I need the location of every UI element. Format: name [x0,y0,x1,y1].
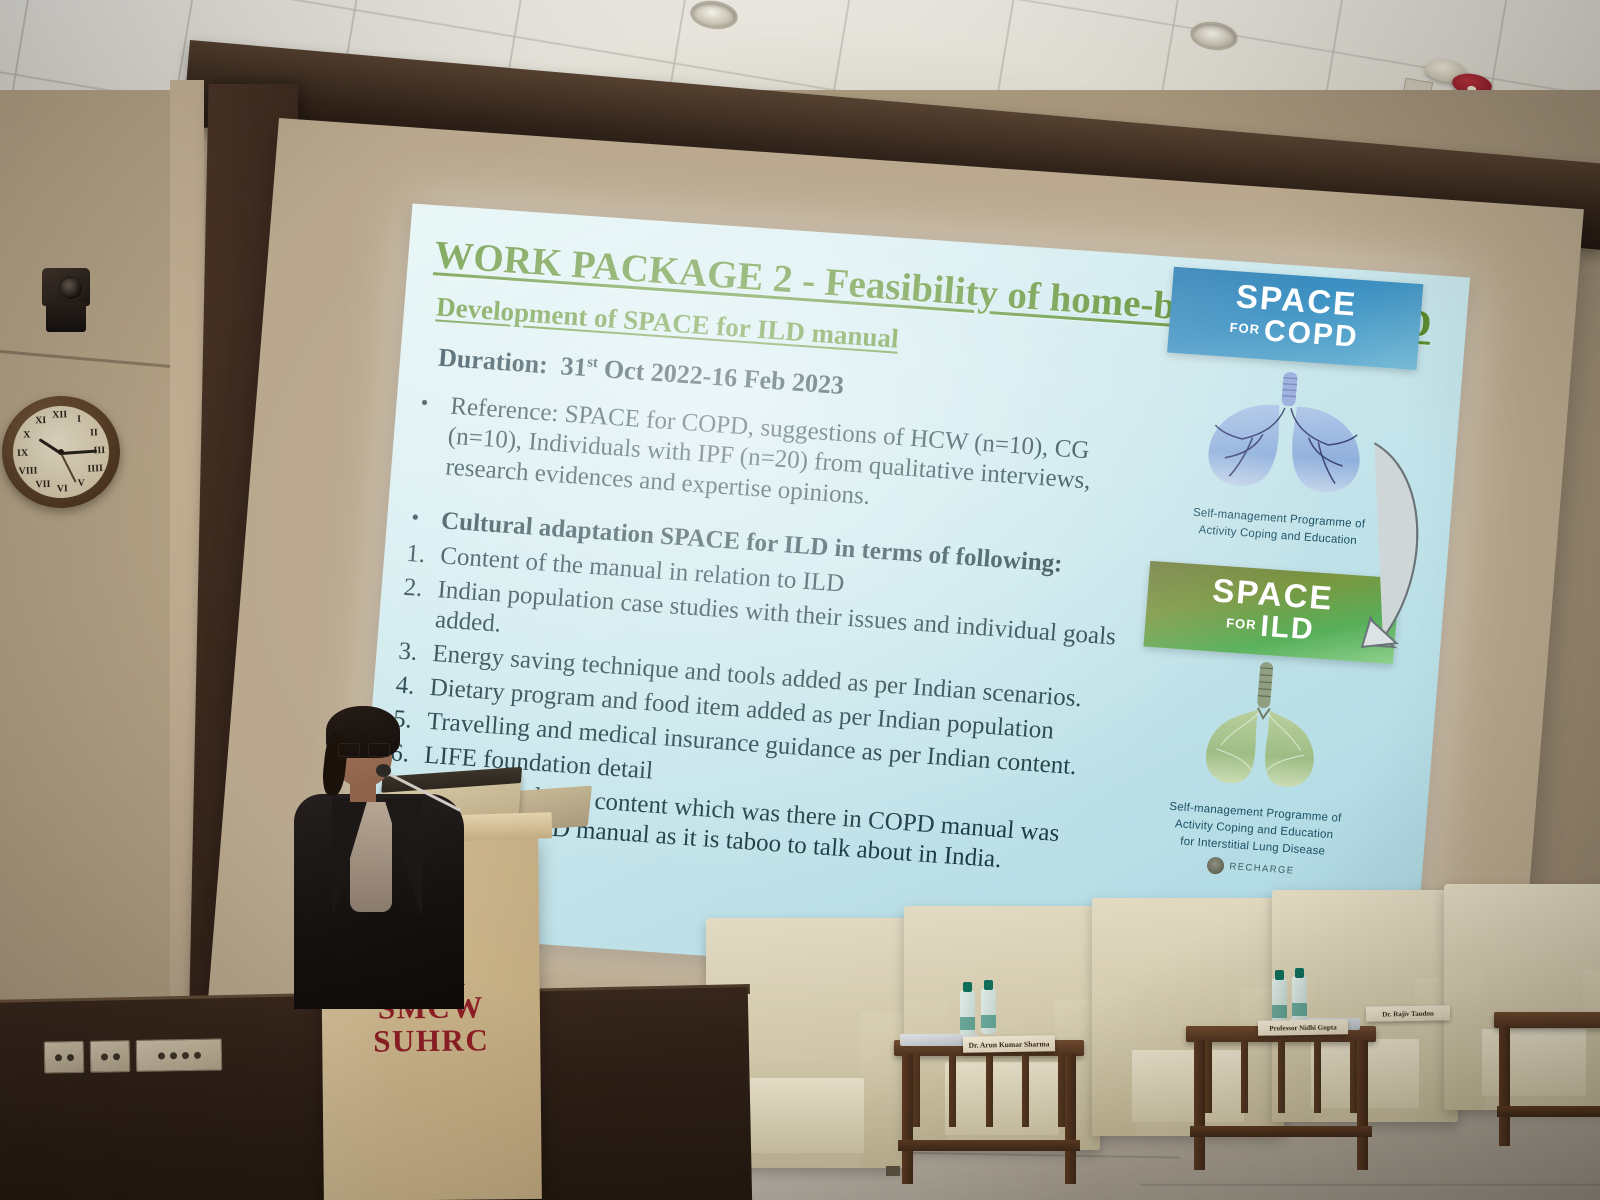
clock-face: XII I II III IIII V VI VII VIII IX X XI [11,404,110,499]
item-number: 3. [397,636,433,668]
item-number: 1. [405,539,441,571]
clock-numeral: II [90,427,98,438]
duration-range: Oct 2022-16 Feb 2023 [596,354,845,400]
ild-banner-for: FOR [1226,616,1258,633]
ild-banner-sub: ILD [1259,610,1316,647]
clock-numeral: IIII [87,463,103,475]
table-shelf [1190,1126,1372,1137]
water-bottle [1292,976,1307,1022]
clock-numeral: V [77,478,85,489]
duration-label: Duration: [437,342,549,379]
recharge-label: RECHARGE [1229,860,1295,878]
side-table [1186,1026,1376,1156]
chair-arm-left [1444,970,1485,1110]
floor-tile-line [1141,1184,1600,1186]
power-outlet-group [44,1038,223,1073]
table-shelf [898,1140,1080,1151]
ptz-camera-icon [38,268,94,340]
table-legs [1499,1026,1600,1146]
copd-banner-for: FOR [1229,320,1261,337]
nameplate: Dr. Rajiv Tandon [1366,1005,1450,1021]
table-leg [1357,1040,1368,1170]
nameplate-text: Dr. Rajiv Tandon [1382,1009,1434,1018]
duration-value: 31st Oct 2022-16 Feb 2023 [553,351,845,400]
power-outlet[interactable] [90,1040,131,1073]
lungs-icon [1167,654,1358,806]
camera-head [42,268,90,306]
clock-numeral: IX [17,448,29,459]
conference-hall-scene: XII I II III IIII V VI VII VIII IX X XI [0,0,1600,1200]
camera-mount [46,302,86,332]
clock-numeral: VI [57,483,69,494]
clock-numeral: XI [35,415,47,426]
clock-numeral: XII [52,409,67,421]
table-leg [1194,1040,1205,1170]
blazer-lapel-right [384,798,422,918]
camera-lens-icon [58,276,84,301]
ild-lung-illustration [1131,647,1392,814]
nameplate-text: Dr. Arun Kumar Sharma [968,1039,1049,1049]
nameplate: Professor Nidhi Gupta [1258,1019,1348,1036]
clock-numeral: VII [35,479,50,491]
water-bottle [981,988,996,1034]
slide-image-column: SPACE FORCOPD [1125,267,1456,898]
table-shelf [1497,1106,1600,1117]
nameplate: Dr. Arun Kumar Sharma [963,1035,1055,1053]
copd-banner-sub: COPD [1263,314,1360,353]
blazer-lapel-left [332,798,368,918]
table-legs [902,1054,1077,1184]
clock-numeral: X [23,429,31,440]
chair-arm-left [1092,988,1136,1136]
clock-minute-hand [61,449,97,455]
power-outlet[interactable] [44,1041,85,1074]
microphone-icon [376,764,391,777]
curved-arrow-icon [1337,430,1447,666]
power-outlet[interactable] [136,1038,223,1071]
clock-second-hand [60,452,76,482]
clock-numeral: VIII [18,466,37,478]
clock-numeral: I [77,414,81,425]
item-number: 4. [395,670,431,702]
podium-org-line-2: SUHRC [348,1024,514,1058]
speaker-person [288,706,478,1006]
side-table [894,1040,1084,1170]
copd-banner-text: SPACE FORCOPD [1168,275,1423,357]
table-leg [1065,1054,1076,1184]
recharge-logo-icon [1207,857,1225,875]
water-bottle [1272,978,1287,1024]
table-leg [1499,1026,1510,1146]
side-table [1494,1012,1600,1132]
water-bottle [960,990,975,1036]
duration-day: 31 [560,351,588,382]
table-leg [902,1054,913,1184]
item-number: 2. [400,573,439,635]
chair-seat [748,1078,864,1153]
speaker-hair-side [321,731,350,797]
bullet-marker: • [410,504,442,536]
table-legs [1194,1040,1369,1170]
nameplate-text: Professor Nidhi Gupta [1269,1023,1337,1032]
eyeglasses-icon [338,743,390,755]
